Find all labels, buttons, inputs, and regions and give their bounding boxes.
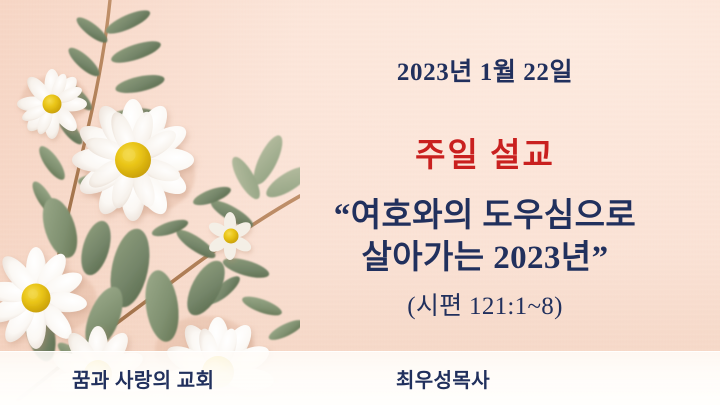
church-name: 꿈과 사랑의 교회: [72, 364, 214, 393]
sermon-title-line-1: “여호와의 도우심으로: [250, 195, 720, 237]
sermon-title: “여호와의 도우심으로 살아가는 2023년”: [250, 195, 720, 279]
pastor-name: 최우성목사: [396, 364, 490, 393]
sermon-card: 2023년 1월 22일 주일 설교 “여호와의 도우심으로 살아가는 2023…: [0, 0, 720, 405]
sermon-text-block: 2023년 1월 22일 주일 설교 “여호와의 도우심으로 살아가는 2023…: [250, 0, 720, 352]
footer-bar: 꿈과 사랑의 교회 최우성목사: [0, 351, 720, 405]
sermon-title-line-2: 살아가는 2023년”: [250, 237, 720, 279]
daisy-small-upper: [17, 69, 87, 139]
sermon-type-label: 주일 설교: [250, 128, 720, 176]
service-date: 2023년 1월 22일: [250, 52, 720, 88]
scripture-reference: (시편 121:1~8): [250, 286, 720, 322]
